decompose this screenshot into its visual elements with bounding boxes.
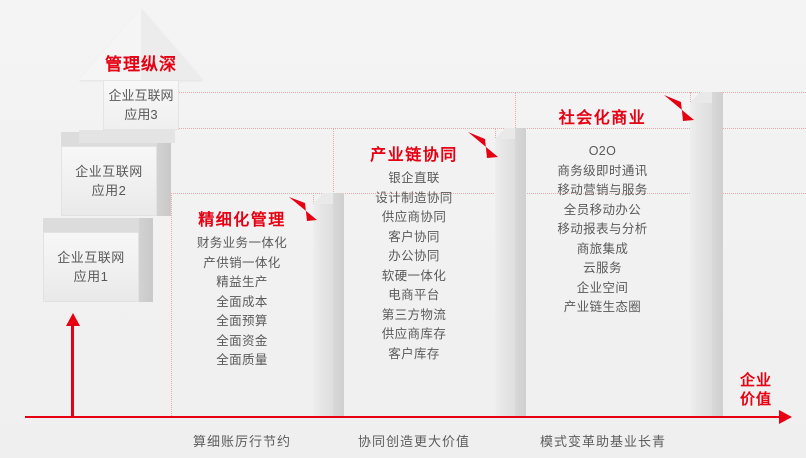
peak-line1: 企业互联网 xyxy=(108,86,173,105)
pillar-side-face xyxy=(712,92,723,418)
column-1-item: 全面预算 xyxy=(171,312,313,332)
column-3-item: 产业链生态圈 xyxy=(515,298,690,318)
axis-label-line2: 价值 xyxy=(728,390,784,409)
column-3-item: 移动报表与分析 xyxy=(515,220,690,240)
column-2-item: 客户协同 xyxy=(333,228,495,248)
column-2-items: 银企直联 设计制造协同 供应商协同 客户协同 办公协同 软硬一体化 电商平台 第… xyxy=(333,169,495,364)
column-3-item: 全员移动办公 xyxy=(515,201,690,221)
peak-title: 管理纵深 xyxy=(79,50,203,75)
column-1-item: 财务业务一体化 xyxy=(171,234,313,254)
vertical-arrow-head xyxy=(66,313,80,326)
column-3-flag-icon xyxy=(662,94,696,126)
column-1-item: 产供销一体化 xyxy=(171,254,313,274)
stair-block-2-face: 企业互联网 应用2 xyxy=(61,146,157,216)
vertical-arrow-stem xyxy=(71,325,74,417)
stair-block-1-line2: 应用1 xyxy=(74,267,109,286)
peak-base-shadow xyxy=(79,130,175,143)
pillar-front-face xyxy=(313,204,333,418)
column-3-item: O2O xyxy=(515,142,690,162)
stair-top-face xyxy=(43,218,139,232)
column-2-item: 办公协同 xyxy=(333,247,495,267)
pillar-front-face xyxy=(495,139,515,418)
caption-3: 模式变革助基业长青 xyxy=(516,431,690,450)
column-2-item: 第三方物流 xyxy=(333,306,495,326)
column-1-item: 全面质量 xyxy=(171,351,313,371)
stair-block-2: 企业互联网 应用2 xyxy=(61,146,157,216)
column-2: 产业链协同 银企直联 设计制造协同 供应商协同 客户协同 办公协同 软硬一体化 … xyxy=(333,141,495,364)
caption-2: 协同创造更大价值 xyxy=(334,431,494,450)
peak-house: 管理纵深 企业互联网 应用3 xyxy=(79,8,203,130)
peak-line2: 应用3 xyxy=(124,105,157,124)
column-3-item: 移动营销与服务 xyxy=(515,181,690,201)
column-3-item: 商务级即时通讯 xyxy=(515,162,690,182)
stair-side-face xyxy=(157,132,171,216)
column-3-items: O2O 商务级即时通讯 移动营销与服务 全员移动办公 移动报表与分析 商旅集成 … xyxy=(515,142,690,318)
column-2-flag-icon xyxy=(466,131,500,163)
stair-block-1: 企业互联网 应用1 xyxy=(43,232,139,302)
column-2-item: 客户库存 xyxy=(333,345,495,365)
pillar-separator-3 xyxy=(690,103,712,418)
peak-body: 企业互联网 应用3 xyxy=(103,80,179,130)
diagram-canvas: 企业互联网 应用1 企业互联网 应用2 管理纵深 企业互联网 应用3 精细化管理… xyxy=(0,0,806,458)
stair-block-2-line2: 应用2 xyxy=(92,181,127,200)
column-2-item: 设计制造协同 xyxy=(333,189,495,209)
column-2-item: 电商平台 xyxy=(333,286,495,306)
column-2-item: 软硬一体化 xyxy=(333,267,495,287)
value-axis-line xyxy=(25,416,781,418)
pillar-separator-2 xyxy=(495,139,515,418)
stair-block-1-line1: 企业互联网 xyxy=(57,248,125,267)
column-3-item: 企业空间 xyxy=(515,279,690,299)
column-2-item: 供应商协同 xyxy=(333,208,495,228)
column-2-item: 供应商库存 xyxy=(333,325,495,345)
axis-label: 企业 价值 xyxy=(728,371,784,409)
stair-side-face xyxy=(139,218,153,302)
column-1-items: 财务业务一体化 产供销一体化 精益生产 全面成本 全面预算 全面资金 全面质量 xyxy=(171,234,313,371)
caption-1: 算细账厉行节约 xyxy=(172,431,312,450)
stair-block-2-line1: 企业互联网 xyxy=(75,162,143,181)
column-1-flag-icon xyxy=(287,196,319,226)
column-1-item: 精益生产 xyxy=(171,273,313,293)
column-1-item: 全面成本 xyxy=(171,293,313,313)
column-1: 精细化管理 财务业务一体化 产供销一体化 精益生产 全面成本 全面预算 全面资金… xyxy=(171,206,313,371)
column-2-item: 银企直联 xyxy=(333,169,495,189)
column-3: 社会化商业 O2O 商务级即时通讯 移动营销与服务 全员移动办公 移动报表与分析… xyxy=(515,104,690,318)
value-axis-arrow-head xyxy=(779,410,792,424)
pillar-separator-1 xyxy=(313,204,333,418)
column-3-item: 云服务 xyxy=(515,259,690,279)
column-1-item: 全面资金 xyxy=(171,332,313,352)
stair-block-1-face: 企业互联网 应用1 xyxy=(43,232,139,302)
column-3-item: 商旅集成 xyxy=(515,240,690,260)
pillar-front-face xyxy=(690,103,712,418)
axis-label-line1: 企业 xyxy=(728,371,784,390)
